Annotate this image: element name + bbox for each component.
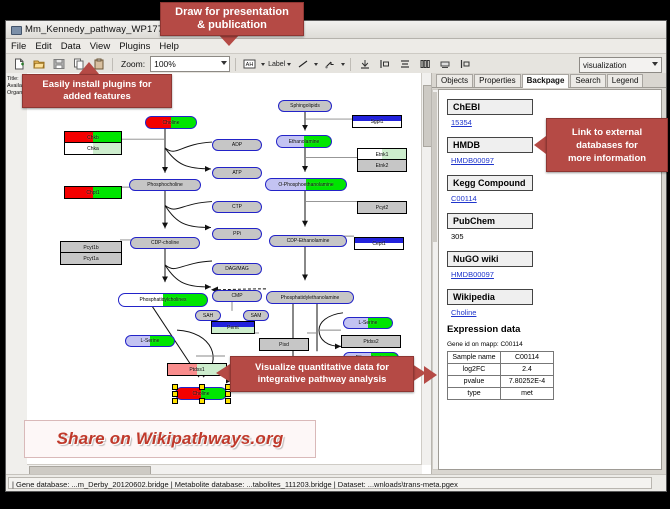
- node-label: Phosphatidylethanolamine: [281, 295, 340, 301]
- toolbar-separator: [112, 58, 113, 71]
- tab-objects[interactable]: Objects: [436, 74, 473, 87]
- pathway-node-o-phosphoethanolamine[interactable]: O-Phosphoethanolamine: [265, 178, 347, 191]
- save-icon[interactable]: [50, 56, 67, 73]
- node-label: Choline: [163, 120, 180, 126]
- callout-visualize: Visualize quantitative data for integrat…: [230, 356, 414, 392]
- callout-visualize-arrow-left: [216, 364, 230, 382]
- db-header-hmdb: HMDB: [447, 137, 533, 153]
- pathway-node-sam[interactable]: SAM: [243, 310, 269, 321]
- node-label: Sgpl1: [371, 119, 384, 125]
- menu-item-data[interactable]: Data: [61, 41, 81, 52]
- scroll-thumb[interactable]: [29, 466, 151, 474]
- status-bar-field: | Gene database: ...m_Derby_20120602.bri…: [8, 477, 652, 489]
- node-label: Etnk2: [376, 163, 389, 169]
- pathway-node-pcyt1a[interactable]: Pcyt1a: [60, 252, 122, 265]
- selection-handle[interactable]: [199, 384, 205, 390]
- chevron-down-icon[interactable]: [314, 63, 318, 66]
- label-tool[interactable]: Label: [268, 61, 291, 68]
- menu-item-file[interactable]: File: [11, 41, 26, 52]
- chevron-down-icon: [652, 62, 658, 66]
- node-label: Pcyt2: [376, 205, 389, 211]
- node-label: Chkb: [87, 135, 99, 141]
- pathway-node-ctp[interactable]: CTP: [212, 201, 262, 213]
- status-bar: | Gene database: ...m_Derby_20120602.bri…: [6, 474, 666, 491]
- table-cell-key: pvalue: [448, 376, 501, 388]
- node-label: Pcyt1b: [83, 245, 98, 251]
- scroll-thumb[interactable]: [423, 85, 432, 147]
- table-cell-key: Sample name: [448, 352, 501, 364]
- tab-properties[interactable]: Properties: [474, 74, 520, 87]
- open-folder-icon[interactable]: [30, 56, 47, 73]
- stack-vertical-icon[interactable]: [396, 56, 413, 73]
- selection-handle[interactable]: [199, 398, 205, 404]
- node-label: Phosphatidylcholines: [140, 297, 187, 303]
- node-label: Phosphocholine: [147, 182, 183, 188]
- selection-handle[interactable]: [225, 398, 231, 404]
- node-label: Chpt1: [86, 190, 99, 196]
- node-label: Etnk1: [376, 152, 389, 158]
- tab-backpage[interactable]: Backpage: [522, 74, 570, 88]
- tab-legend[interactable]: Legend: [607, 74, 644, 87]
- node-label: Pisd: [279, 342, 289, 348]
- table-row: log2FC 2.4: [448, 364, 554, 376]
- pathway-node-cdp-choline[interactable]: CDP-choline: [130, 237, 200, 249]
- table-cell-value: met: [501, 388, 554, 400]
- table-cell-value: 7.80252E-4: [501, 376, 554, 388]
- db-header-wikipedia: Wikipedia: [447, 289, 533, 305]
- callout-plugins-arrow: [79, 62, 99, 74]
- status-bar-text: | Gene database: ...m_Derby_20120602.bri…: [12, 480, 458, 489]
- chevron-down-icon[interactable]: [341, 63, 345, 66]
- pathvisio-icon: [10, 24, 21, 35]
- node-label: L-Serine: [359, 320, 378, 326]
- chevron-down-icon: [221, 61, 227, 65]
- table-row: type met: [448, 388, 554, 400]
- distribute-horizontal-icon[interactable]: [416, 56, 433, 73]
- svg-text:AH: AH: [246, 62, 254, 68]
- callout-share-text: Share on Wikipathways.org: [57, 429, 284, 449]
- callout-expression-arrow: [424, 366, 437, 384]
- node-label: SAM: [251, 313, 262, 319]
- menu-bar: File Edit Data View Plugins Help: [6, 39, 666, 54]
- zoom-value: 100%: [154, 59, 176, 69]
- callout-draw: Draw for presentation & publication: [160, 2, 304, 36]
- callout-line: Visualize quantitative data for: [255, 362, 389, 374]
- node-label: PPi: [233, 231, 241, 237]
- chevron-down-icon: [287, 63, 291, 66]
- canvas-horizontal-scrollbar[interactable]: [27, 464, 422, 474]
- db-value-pubchem: 305: [451, 232, 653, 241]
- table-cell-key: log2FC: [448, 364, 501, 376]
- table-cell-value: C00114: [501, 352, 554, 364]
- table-cell-key: type: [448, 388, 501, 400]
- pathway-node-pisd[interactable]: Pisd: [259, 338, 309, 351]
- chevron-down-icon[interactable]: [261, 63, 265, 66]
- pathway-node-cmp[interactable]: CMP: [212, 290, 262, 302]
- menu-item-help[interactable]: Help: [159, 41, 179, 52]
- node-label: Sphingolipids: [290, 103, 320, 109]
- pathway-node-pemt[interactable]: Pemt: [211, 321, 255, 334]
- node-label: DAG/MAG: [225, 266, 249, 272]
- db-header-chebi: ChEBI: [447, 99, 533, 115]
- gene-id-on-mapp: Gene id on mapp: C00114: [447, 341, 653, 348]
- pathway-node-etnk2[interactable]: Etnk2: [357, 159, 407, 172]
- toolbar-separator: [350, 58, 351, 71]
- label-tool-text: Label: [268, 61, 285, 68]
- visualization-value: visualization: [583, 61, 627, 70]
- pathway-node-phosphatidylcholines[interactable]: Phosphatidylcholines: [118, 293, 208, 307]
- pathway-node-ethanolamine-top[interactable]: Ethanolamine: [276, 135, 332, 148]
- align-top-icon[interactable]: [356, 56, 373, 73]
- menu-item-plugins[interactable]: Plugins: [119, 41, 150, 52]
- node-label: Ethanolamine: [289, 139, 320, 145]
- tab-search[interactable]: Search: [570, 74, 605, 87]
- node-label: Chka: [87, 146, 99, 152]
- node-label: CTP: [232, 204, 242, 210]
- pathway-node-adp[interactable]: ADP: [212, 139, 262, 151]
- db-link-kegg-compound[interactable]: C00114: [451, 194, 653, 203]
- expression-table: Sample name C00114 log2FC 2.4 pvalue 7.8…: [447, 351, 554, 400]
- node-label: CDP-Ethanolamine: [287, 238, 330, 244]
- callout-line: & publication: [197, 19, 267, 32]
- pathway-node-chka[interactable]: Chka: [64, 142, 122, 155]
- pathway-info-labels: Title: Availa Organ: [6, 73, 29, 474]
- table-row: Sample name C00114: [448, 352, 554, 364]
- pathway-node-l-serine-right[interactable]: L-Serine: [343, 317, 393, 329]
- callout-plugins: Easily install plugins for added feature…: [22, 74, 172, 108]
- node-label: O-Phosphoethanolamine: [278, 182, 333, 188]
- node-label: Pcyt1a: [83, 256, 98, 262]
- align-left-icon[interactable]: [376, 56, 393, 73]
- pathway-node-phosphatidylethanolamine[interactable]: Phosphatidylethanolamine: [266, 291, 354, 304]
- pathway-node-cdp-ethanolamine[interactable]: CDP-Ethanolamine: [269, 235, 347, 247]
- db-link-nugo-wiki[interactable]: HMDB00097: [451, 270, 653, 279]
- pathway-node-dag-mag[interactable]: DAG/MAG: [212, 263, 262, 275]
- callout-links-arrow: [534, 136, 546, 154]
- db-link-wikipedia[interactable]: Choline: [451, 308, 653, 317]
- pathway-node-choline-top[interactable]: Choline: [145, 116, 197, 129]
- callout-line: Draw for presentation: [175, 6, 289, 19]
- table-cell-value: 2.4: [501, 364, 554, 376]
- node-label: ADP: [232, 142, 242, 148]
- pathway-node-phosphocholine[interactable]: Phosphocholine: [129, 179, 201, 191]
- title-bar: Mm_Kennedy_pathway_WP1771_45176.gpml: [6, 21, 666, 39]
- zoom-label: Zoom:: [121, 59, 145, 69]
- interaction-icon[interactable]: [321, 56, 338, 73]
- pathway-node-chpt1[interactable]: Chpt1: [64, 186, 122, 199]
- node-label: L-Serine: [141, 338, 160, 344]
- node-label: Choline: [193, 391, 210, 397]
- node-label: CDP-choline: [151, 240, 179, 246]
- selection-handle[interactable]: [172, 391, 178, 397]
- pathway-node-l-serine-left[interactable]: L-Serine: [125, 335, 175, 347]
- selection-handle[interactable]: [172, 384, 178, 390]
- datanode-icon[interactable]: AH: [241, 56, 258, 73]
- right-panel-tabs: Objects Properties Backpage Search Legen…: [432, 73, 666, 88]
- node-label: ATP: [232, 170, 241, 176]
- callout-line: Link to external: [572, 126, 642, 139]
- callout-links: Link to external databases for more info…: [546, 118, 668, 172]
- menu-item-view[interactable]: View: [90, 41, 110, 52]
- pathway-node-atp[interactable]: ATP: [212, 167, 262, 179]
- pathway-node-sgpl1[interactable]: Sgpl1: [352, 115, 402, 128]
- pathway-node-sah[interactable]: SAH: [195, 310, 221, 321]
- node-label: SAH: [203, 313, 213, 319]
- line-icon[interactable]: [294, 56, 311, 73]
- toolbar: Zoom: 100% AH Label: [6, 54, 666, 75]
- scroll-thumb[interactable]: [433, 92, 437, 242]
- node-label: Pemt: [227, 325, 239, 331]
- callout-line: more information: [568, 152, 646, 165]
- db-header-nugo-wiki: NuGO wiki: [447, 251, 533, 267]
- db-header-pubchem: PubChem: [447, 213, 533, 229]
- callout-line: added features: [63, 91, 131, 103]
- pathway-node-ppi[interactable]: PPi: [212, 228, 262, 240]
- visualization-select[interactable]: visualization: [579, 57, 662, 73]
- pathway-node-sphingolipids[interactable]: Sphingolipids: [278, 100, 332, 112]
- pathway-node-pcyt2[interactable]: Pcyt2: [357, 201, 407, 214]
- table-row: pvalue 7.80252E-4: [448, 376, 554, 388]
- ungroup-icon[interactable]: [456, 56, 473, 73]
- node-label: Cept1: [372, 241, 385, 247]
- pathway-node-cept1[interactable]: Cept1: [354, 237, 404, 250]
- db-header-kegg-compound: Kegg Compound: [447, 175, 533, 191]
- callout-share: Share on Wikipathways.org: [24, 420, 316, 458]
- group-icon[interactable]: [436, 56, 453, 73]
- node-label: CMP: [231, 293, 242, 299]
- pathway-canvas-area: Title: Availa Organ: [6, 73, 432, 474]
- expression-data-heading: Expression data: [447, 324, 653, 335]
- callout-line: Easily install plugins for: [42, 79, 151, 91]
- pathway-node-ptdss2[interactable]: Ptdss2: [341, 335, 401, 348]
- callout-line: integrative pathway analysis: [258, 374, 387, 386]
- zoom-select[interactable]: 100%: [150, 56, 230, 72]
- toolbar-separator: [235, 58, 236, 71]
- selection-handle[interactable]: [172, 398, 178, 404]
- new-file-icon[interactable]: [10, 56, 27, 73]
- node-label: Ptdss1: [189, 367, 204, 373]
- canvas-vertical-scrollbar[interactable]: [421, 73, 431, 465]
- node-label: Ptdss2: [363, 339, 378, 345]
- pathway-canvas[interactable]: ADP ATP CTP PPi DAG/MAG CMP Phosphocholi…: [27, 73, 431, 474]
- menu-item-edit[interactable]: Edit: [35, 41, 51, 52]
- callout-line: databases for: [576, 139, 638, 152]
